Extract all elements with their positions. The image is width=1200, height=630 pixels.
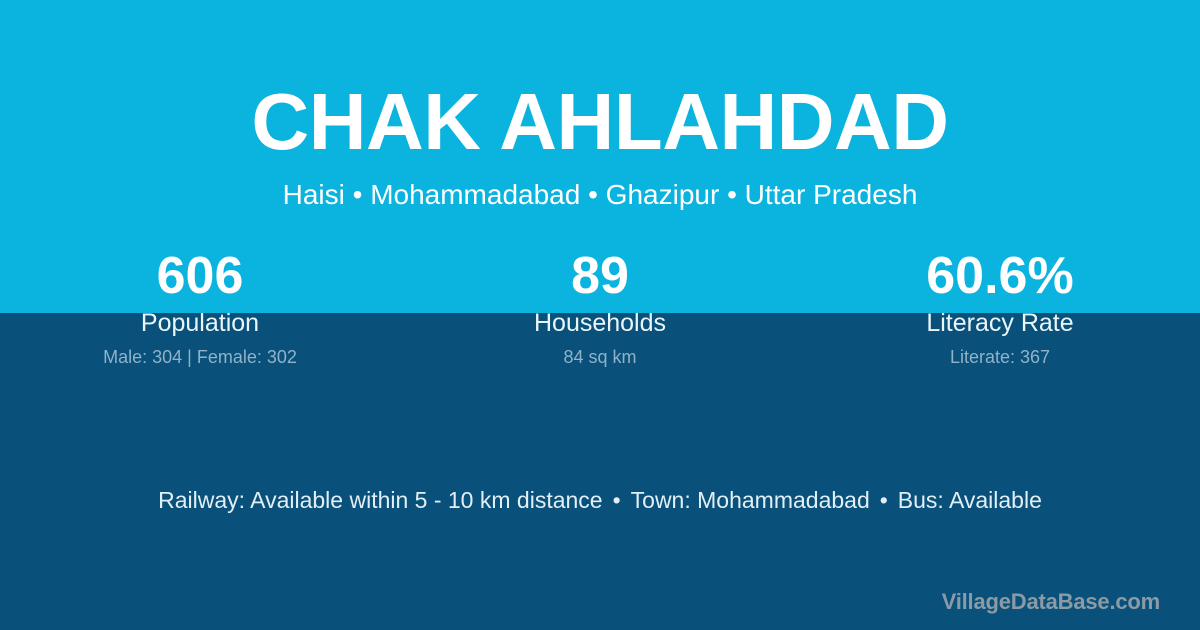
village-info-card: CHAK AHLAHDAD Haisi • Mohammadabad • Gha… — [0, 0, 1200, 630]
amenities-line: Railway: Available within 5 - 10 km dist… — [0, 486, 1200, 514]
households-label: Households — [400, 308, 800, 338]
amenity-bus: Bus: Available — [898, 487, 1042, 513]
literacy-value: 60.6% — [800, 246, 1200, 306]
population-label: Population — [0, 308, 400, 338]
literacy-detail: Literate: 367 — [800, 346, 1200, 368]
card-header: CHAK AHLAHDAD Haisi • Mohammadabad • Gha… — [0, 0, 1200, 212]
amenity-separator-icon: • — [603, 487, 631, 513]
stat-block-literacy: 60.6% Literacy Rate Literate: 367 — [800, 246, 1200, 368]
amenity-railway: Railway: Available within 5 - 10 km dist… — [158, 487, 602, 513]
population-value: 606 — [0, 246, 400, 306]
households-value: 89 — [400, 246, 800, 306]
stat-block-households: 89 Households 84 sq km — [400, 246, 800, 368]
stat-block-population: 606 Population Male: 304 | Female: 302 — [0, 246, 400, 368]
page-title: CHAK AHLAHDAD — [0, 80, 1200, 164]
stats-row: 606 Population Male: 304 | Female: 302 8… — [0, 246, 1200, 368]
population-detail: Male: 304 | Female: 302 — [0, 346, 400, 368]
location-breadcrumb: Haisi • Mohammadabad • Ghazipur • Uttar … — [0, 178, 1200, 212]
amenity-separator-icon: • — [870, 487, 898, 513]
literacy-label: Literacy Rate — [800, 308, 1200, 338]
households-detail: 84 sq km — [400, 346, 800, 368]
amenity-town: Town: Mohammadabad — [631, 487, 870, 513]
brand-watermark: VillageDataBase.com — [942, 588, 1160, 616]
